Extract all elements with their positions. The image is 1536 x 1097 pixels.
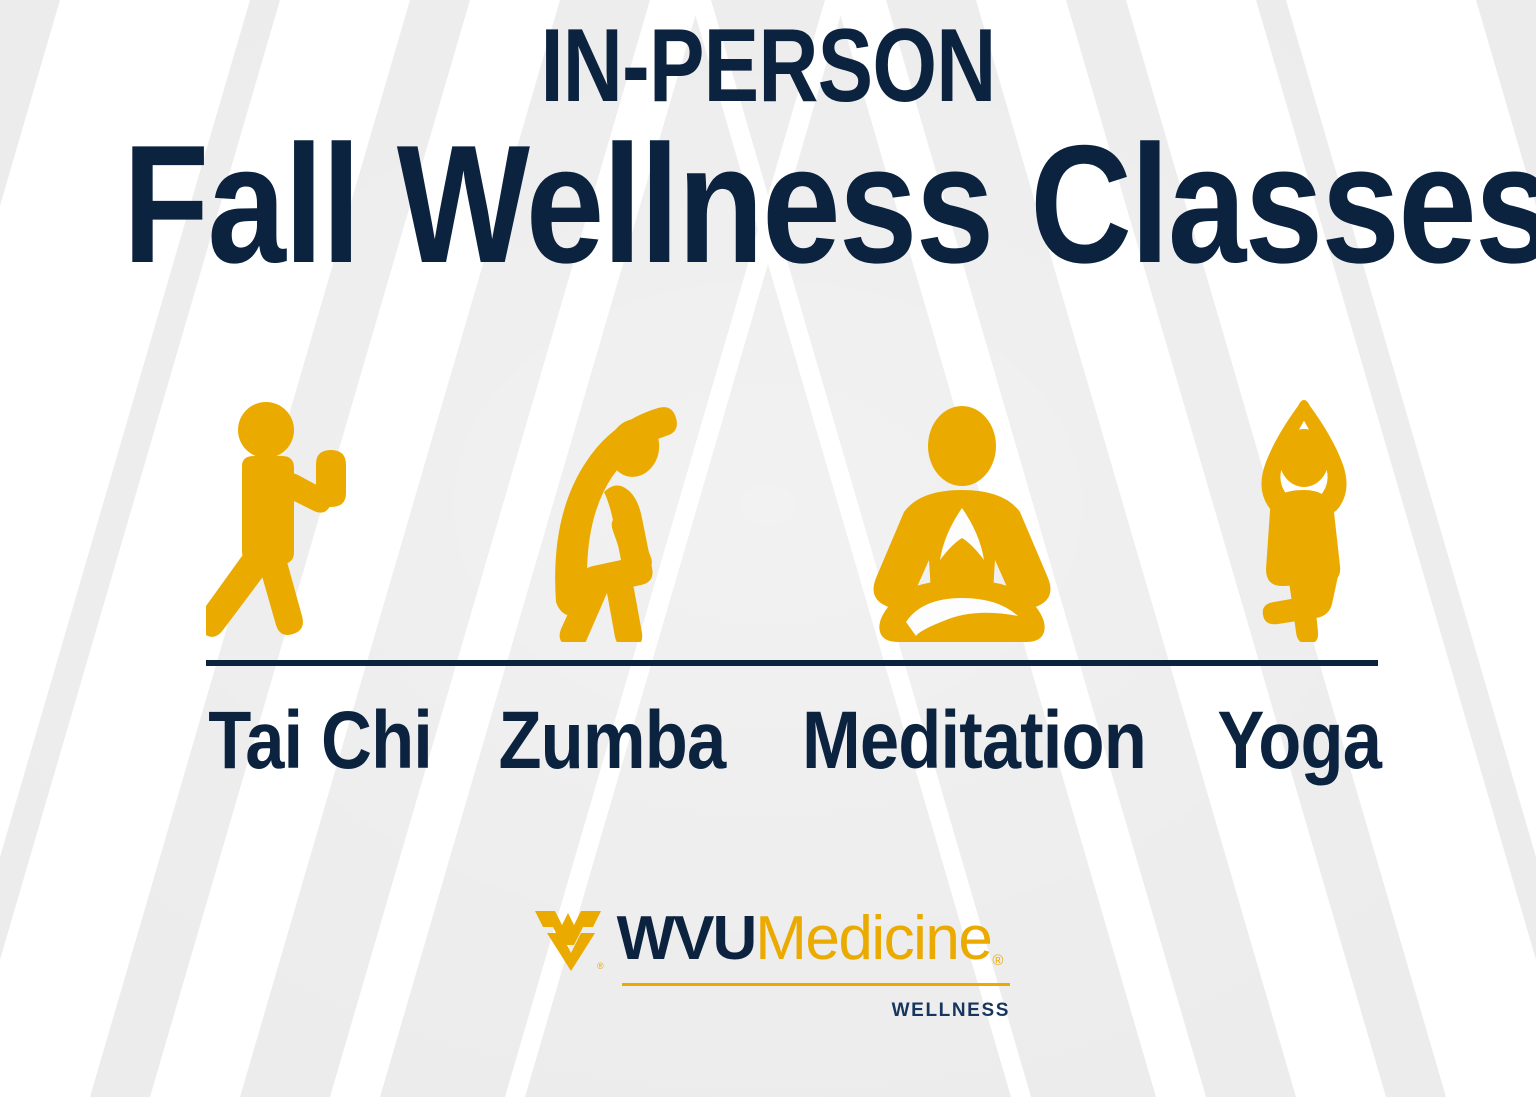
class-figures-row xyxy=(206,392,1378,642)
flying-wv-icon: ® xyxy=(533,905,609,973)
registered-trademark-icon: ® xyxy=(992,953,1003,968)
class-label-yoga: Yoga xyxy=(1217,700,1381,782)
class-figure-cell-yoga xyxy=(1230,392,1378,642)
svg-text:®: ® xyxy=(597,961,604,971)
logo-underline-rule xyxy=(622,983,1010,986)
class-label-meditation: Meditation xyxy=(802,700,1146,782)
class-figure-cell-meditation xyxy=(858,392,1066,642)
sub-brand-label: WELLNESS xyxy=(892,1000,1010,1021)
brand-logo-block: ® WVU Medicine ® WELLNESS xyxy=(0,905,1536,1022)
page-title: Fall Wellness Classes xyxy=(123,124,1413,285)
wordmark-wvu: WVU xyxy=(617,908,756,970)
sub-brand-line: WELLNESS xyxy=(622,1000,1010,1022)
wordmark-medicine: Medicine xyxy=(755,908,991,970)
poster-canvas: IN-PERSON Fall Wellness Classes xyxy=(0,0,1536,1097)
zumba-figure-icon xyxy=(526,396,694,642)
yoga-figure-icon xyxy=(1230,392,1378,642)
kicker-text: IN-PERSON xyxy=(154,14,1383,118)
class-label-tai-chi: Tai Chi xyxy=(208,700,432,782)
tai-chi-figure-icon xyxy=(206,402,362,642)
headline-block: IN-PERSON Fall Wellness Classes xyxy=(0,0,1536,285)
wvu-medicine-lockup: ® WVU Medicine ® xyxy=(533,905,1004,973)
wvu-medicine-wordmark: WVU Medicine ® xyxy=(617,908,1004,970)
meditation-figure-icon xyxy=(858,404,1066,642)
class-figure-cell-zumba xyxy=(526,392,694,642)
class-labels-row: Tai Chi Zumba Meditation Yoga xyxy=(190,686,1394,796)
section-divider xyxy=(206,660,1378,666)
class-figure-cell-tai-chi xyxy=(206,392,362,642)
class-label-zumba: Zumba xyxy=(499,700,726,782)
